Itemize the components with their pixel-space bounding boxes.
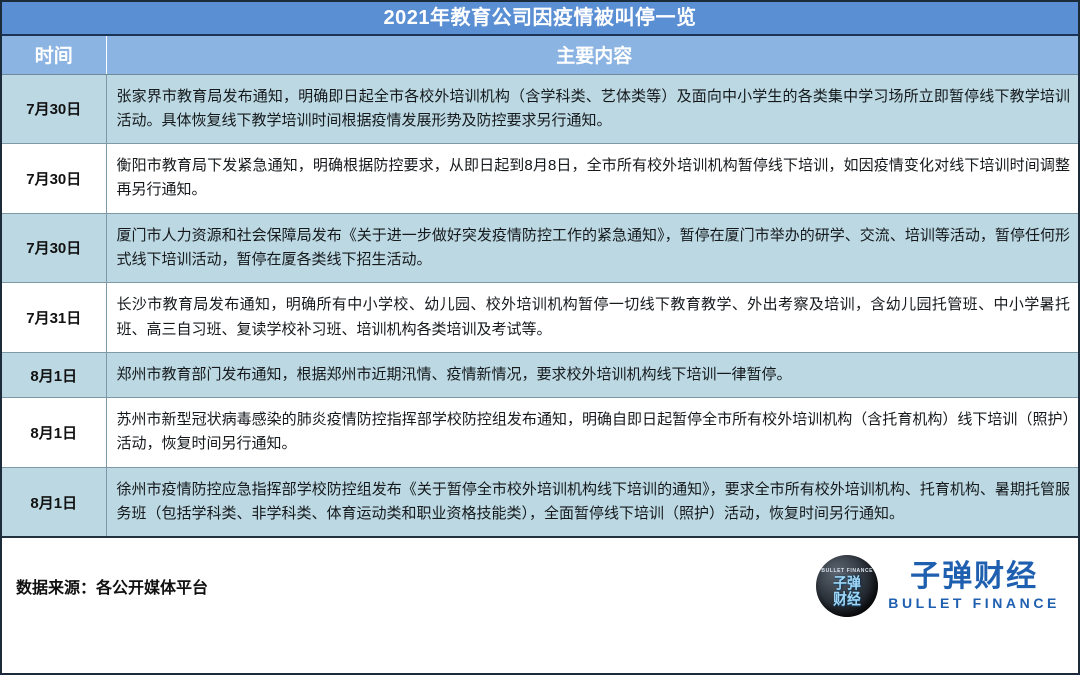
cell-content: 厦门市人力资源和社会保障局发布《关于进一步做好突发疫情防控工作的紧急通知》，暂停… <box>106 213 1080 283</box>
brand-name-cn: 子弹财经 <box>910 561 1038 593</box>
table-row: 8月1日 徐州市疫情防控应急指挥部学校防控组发布《关于暂停全市校外培训机构线下培… <box>2 467 1080 537</box>
table-header-row: 时间 主要内容 <box>2 36 1080 74</box>
cell-date: 8月1日 <box>2 467 106 537</box>
table-row: 8月1日 郑州市教育部门发布通知，根据郑州市近期汛情、疫情新情况，要求校外培训机… <box>2 352 1080 397</box>
cell-date: 7月30日 <box>2 213 106 283</box>
page-title: 2021年教育公司因疫情被叫停一览 <box>384 8 697 28</box>
cell-date: 8月1日 <box>2 352 106 397</box>
badge-top-text: BULLET FINANCE <box>816 568 878 574</box>
badge-mark-line2: 财经 <box>819 592 876 607</box>
table-row: 7月30日 厦门市人力资源和社会保障局发布《关于进一步做好突发疫情防控工作的紧急… <box>2 213 1080 283</box>
infographic-table-page: 2021年教育公司因疫情被叫停一览 时间 主要内容 7月30日 张家界市教育局发… <box>0 0 1080 675</box>
column-header-date: 时间 <box>2 36 106 74</box>
cell-content: 苏州市新型冠状病毒感染的肺炎疫情防控指挥部学校防控组发布通知，明确自即日起暂停全… <box>106 398 1080 468</box>
title-bar: 2021年教育公司因疫情被叫停一览 <box>2 0 1078 36</box>
cell-date: 7月30日 <box>2 74 106 144</box>
footer: 数据来源：各公开媒体平台 BULLET FINANCE 子弹 财经 子弹财经 B… <box>2 538 1078 633</box>
brand-wordmark: 子弹财经 BULLET FINANCE <box>888 561 1060 610</box>
column-header-content: 主要内容 <box>106 36 1080 74</box>
table-body: 7月30日 张家界市教育局发布通知，明确即日起全市各校外培训机构（含学科类、艺体… <box>2 74 1080 537</box>
logo-badge-icon: BULLET FINANCE 子弹 财经 <box>816 555 878 617</box>
cell-content: 郑州市教育部门发布通知，根据郑州市近期汛情、疫情新情况，要求校外培训机构线下培训… <box>106 352 1080 397</box>
brand-name-en: BULLET FINANCE <box>888 596 1060 610</box>
brand-logo: BULLET FINANCE 子弹 财经 子弹财经 BULLET FINANCE <box>816 555 1064 617</box>
cell-content: 长沙市教育局发布通知，明确所有中小学校、幼儿园、校外培训机构暂停一切线下教育教学… <box>106 283 1080 353</box>
cell-content: 张家界市教育局发布通知，明确即日起全市各校外培训机构（含学科类、艺体类等）及面向… <box>106 74 1080 144</box>
data-source-label: 数据来源：各公开媒体平台 <box>16 574 208 598</box>
table-row: 8月1日 苏州市新型冠状病毒感染的肺炎疫情防控指挥部学校防控组发布通知，明确自即… <box>2 398 1080 468</box>
cell-content: 徐州市疫情防控应急指挥部学校防控组发布《关于暂停全市校外培训机构线下培训的通知》… <box>106 467 1080 537</box>
table-row: 7月30日 衡阳市教育局下发紧急通知，明确根据防控要求，从即日起到8月8日，全市… <box>2 144 1080 214</box>
stoppage-table: 时间 主要内容 7月30日 张家界市教育局发布通知，明确即日起全市各校外培训机构… <box>2 36 1080 538</box>
badge-mark: 子弹 财经 <box>819 576 876 607</box>
badge-mark-line1: 子弹 <box>819 576 876 591</box>
cell-date: 8月1日 <box>2 398 106 468</box>
cell-content: 衡阳市教育局下发紧急通知，明确根据防控要求，从即日起到8月8日，全市所有校外培训… <box>106 144 1080 214</box>
table-row: 7月31日 长沙市教育局发布通知，明确所有中小学校、幼儿园、校外培训机构暂停一切… <box>2 283 1080 353</box>
table-row: 7月30日 张家界市教育局发布通知，明确即日起全市各校外培训机构（含学科类、艺体… <box>2 74 1080 144</box>
cell-date: 7月31日 <box>2 283 106 353</box>
cell-date: 7月30日 <box>2 144 106 214</box>
